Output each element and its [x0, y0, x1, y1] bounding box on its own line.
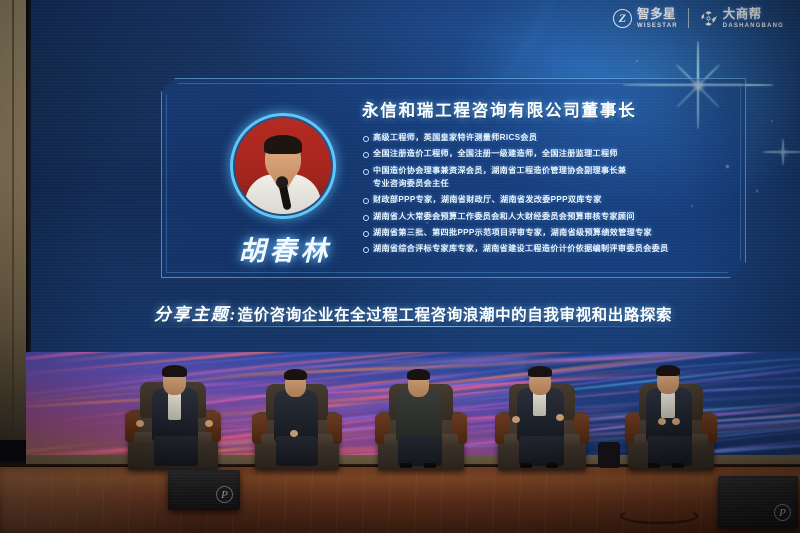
credential-item: 湖南省第三批、第四批PPP示范项目评审专家，湖南省级预算绩效管理专家: [362, 227, 731, 239]
panelist-hand: [672, 418, 680, 425]
credential-item: 全国注册造价工程师，全国注册一级建造师，全国注册监理工程师: [362, 148, 731, 160]
panelist-hand: [512, 416, 520, 423]
credential-item: 高级工程师，英国皇家特许测量师RICS会员: [362, 132, 731, 144]
conference-stage-scene: 智多星 WISESTAR: [0, 0, 800, 533]
logo-dashangbang-cn: 大商帮: [723, 8, 784, 21]
panelist-hand: [658, 418, 666, 425]
panelist-shoe: [672, 463, 684, 468]
credential-item: 财政部PPP专家，湖南省财政厅、湖南省发改委PPP双库专家: [362, 194, 731, 206]
panelist-shirt: [533, 392, 546, 416]
stage-floor: [0, 466, 800, 533]
panelist-shoe: [424, 463, 436, 468]
panelist-hand: [136, 420, 144, 427]
panelist-legs: [398, 436, 442, 466]
panelist-shoe: [400, 463, 412, 468]
logo-wisestar-en: WISESTAR: [637, 23, 678, 29]
panelist-legs: [276, 436, 318, 466]
panelist-legs: [519, 436, 564, 466]
logo-dashangbang-en: DASHANGBANG: [723, 23, 784, 29]
logo-divider: [688, 8, 689, 28]
credential-item-continued: 专业咨询委员会主任: [362, 178, 731, 190]
topic-text: 造价咨询企业在全过程工程咨询浪潮中的自我审视和出路探索: [237, 307, 672, 324]
speaker-brand-badge: P: [216, 486, 233, 503]
portrait-image: [235, 118, 331, 214]
logo-dashangbang: 大商帮 DASHANGBANG: [699, 8, 784, 29]
credentials-list: 高级工程师，英国皇家特许测量师RICS会员 全国注册造价工程师，全国注册一级建造…: [362, 132, 731, 255]
panelist-torso: [396, 390, 442, 442]
panelist-shoe: [520, 463, 532, 468]
screen-bezel: [26, 0, 31, 352]
particle-dot: [771, 120, 773, 122]
panelist-hair: [407, 369, 430, 380]
panelist-hand: [290, 430, 298, 437]
speaker-info-panel: 胡春林 永信和瑞工程咨询有限公司董事长 高级工程师，英国皇家特许测量师RICS会…: [161, 78, 746, 278]
panelist-hair: [162, 365, 187, 377]
panelist-hand: [556, 414, 564, 421]
wisestar-mark-icon: [613, 9, 632, 28]
topic-line: 分享主题:造价咨询企业在全过程工程咨询浪潮中的自我审视和出路探索: [26, 300, 800, 325]
topic-underline: [144, 326, 684, 327]
logo-wisestar-cn: 智多星: [637, 8, 678, 21]
particle-dot: [756, 190, 758, 192]
speaker-name: 胡春林: [200, 229, 370, 268]
floor-cable: [620, 508, 698, 524]
sponsor-logos: 智多星 WISESTAR: [613, 8, 784, 29]
credential-item: 中国造价协会理事兼资深会员，湖南省工程造价管理协会副理事长兼: [362, 165, 731, 177]
portrait-hair: [264, 135, 302, 154]
panelist-hair: [528, 366, 552, 377]
panelist-legs: [648, 436, 692, 466]
auditorium-wall-left: [0, 0, 26, 440]
panelist-shirt: [661, 392, 675, 418]
speaker-title: 永信和瑞工程咨询有限公司董事长: [362, 97, 731, 121]
speaker-brand-badge: P: [774, 504, 791, 521]
credential-item: 湖南省综合评标专家库专家，湖南省建设工程造价计价依据编制评审委员会委员: [362, 243, 731, 255]
bag: [598, 442, 620, 468]
dashangbang-pinwheel-icon: [699, 9, 718, 28]
panelist-hand: [205, 420, 213, 427]
floor-reflection: [0, 466, 300, 533]
stage-monitor-right: P: [718, 476, 798, 528]
panelist-shoe: [546, 463, 558, 468]
panelist-shoe: [648, 463, 660, 468]
panelist-hair: [656, 365, 680, 376]
speaker-text-block: 永信和瑞工程咨询有限公司董事长 高级工程师，英国皇家特许测量师RICS会员 全国…: [362, 97, 731, 260]
logo-wisestar: 智多星 WISESTAR: [613, 8, 678, 29]
stage-monitor-left: P: [168, 470, 240, 510]
led-screen: 智多星 WISESTAR: [26, 0, 800, 352]
panelist-shirt: [168, 392, 181, 420]
topic-label: 分享主题:: [154, 305, 238, 324]
speaker-portrait: [230, 113, 336, 219]
panelist-legs: [154, 436, 198, 466]
credential-item: 湖南省人大常委会预算工作委员会和人大财经委员会预算审核专家顾问: [362, 211, 731, 223]
panelist-hair: [284, 369, 307, 380]
particle-dot: [636, 60, 638, 62]
